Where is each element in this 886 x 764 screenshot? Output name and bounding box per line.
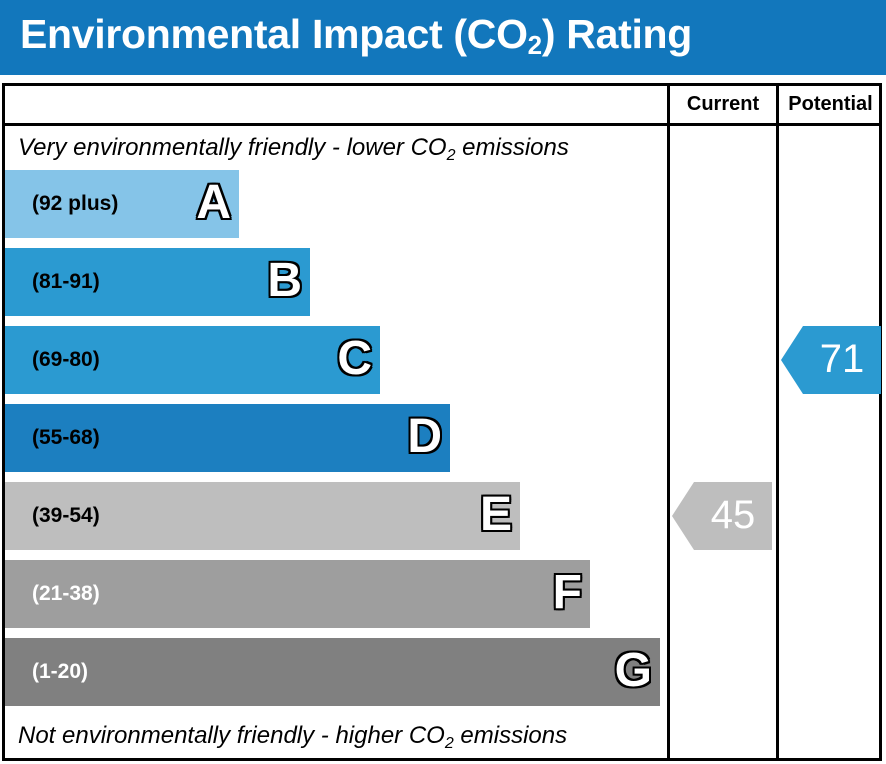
page-title-main: Environmental Impact (CO [20, 11, 528, 57]
band-range-c: (69-80) [32, 326, 100, 394]
band-letter-a: A [196, 170, 231, 238]
current-rating-value: 45 [694, 482, 772, 550]
rating-band-a: (92 plus)A [5, 170, 239, 238]
band-range-a: (92 plus) [32, 170, 118, 238]
rating-band-b: (81-91)B [5, 248, 310, 316]
header-row-divider [2, 123, 882, 126]
column-header-current: Current [670, 88, 776, 121]
chart-title-bar: Environmental Impact (CO2) Rating [0, 0, 886, 75]
caption-bottom: Not environmentally friendly - higher CO… [18, 722, 567, 750]
caption-bottom-subscript: 2 [445, 735, 454, 752]
column-header-potential: Potential [779, 88, 882, 121]
band-range-d: (55-68) [32, 404, 100, 472]
column-divider-current [667, 83, 670, 761]
band-letter-f: F [553, 560, 582, 628]
band-range-f: (21-38) [32, 560, 100, 628]
band-letter-b: B [267, 248, 302, 316]
band-range-b: (81-91) [32, 248, 100, 316]
band-letter-g: G [615, 638, 652, 706]
band-letter-c: C [337, 326, 372, 394]
band-range-g: (1-20) [32, 638, 88, 706]
band-range-e: (39-54) [32, 482, 100, 550]
caption-top-post: emissions [456, 134, 569, 161]
caption-bottom-post: emissions [454, 722, 567, 749]
rating-band-f: (21-38)F [5, 560, 590, 628]
rating-band-c: (69-80)C [5, 326, 380, 394]
rating-band-g: (1-20)G [5, 638, 660, 706]
page-title: Environmental Impact (CO2) Rating [20, 11, 692, 58]
band-letter-d: D [407, 404, 442, 472]
caption-top-pre: Very environmentally friendly - lower CO [18, 134, 447, 161]
page-title-tail: ) Rating [542, 11, 692, 57]
rating-band-d: (55-68)D [5, 404, 450, 472]
epc-co2-rating-chart: Environmental Impact (CO2) Rating Curren… [0, 0, 886, 764]
column-divider-potential [776, 83, 779, 761]
caption-bottom-pre: Not environmentally friendly - higher CO [18, 722, 445, 749]
potential-rating-value: 71 [803, 326, 881, 394]
band-letter-e: E [480, 482, 512, 550]
page-title-subscript: 2 [528, 30, 542, 60]
caption-top: Very environmentally friendly - lower CO… [18, 134, 569, 162]
caption-top-subscript: 2 [447, 147, 456, 164]
rating-band-e: (39-54)E [5, 482, 520, 550]
